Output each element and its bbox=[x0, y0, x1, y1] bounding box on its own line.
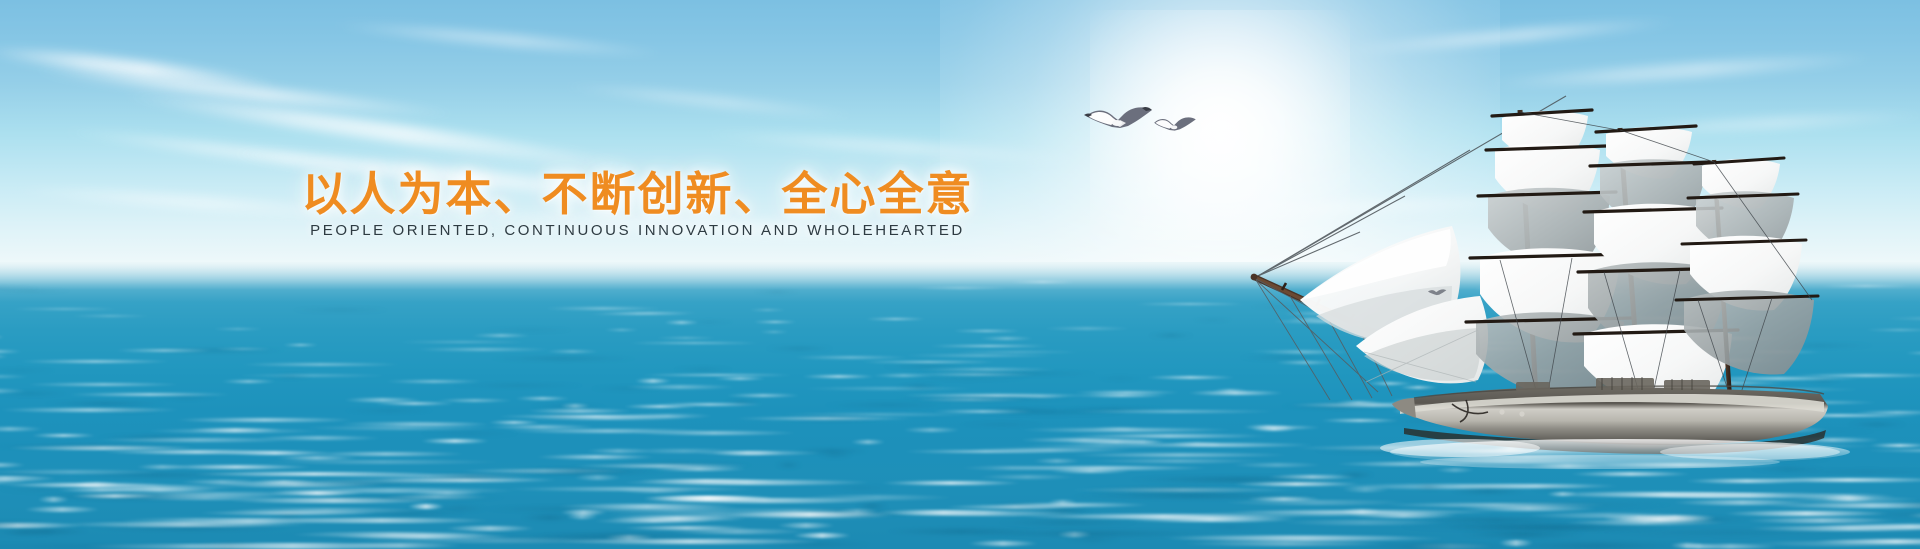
horizon-haze bbox=[0, 262, 1920, 290]
ocean-background bbox=[0, 262, 1920, 549]
hero-banner: 以人为本、不断创新、全心全意 PEOPLE ORIENTED, CONTINUO… bbox=[0, 0, 1920, 549]
banner-subtitle: PEOPLE ORIENTED, CONTINUOUS INNOVATION A… bbox=[0, 222, 1275, 239]
banner-headline: 以人为本、不断创新、全心全意 bbox=[0, 158, 1275, 224]
